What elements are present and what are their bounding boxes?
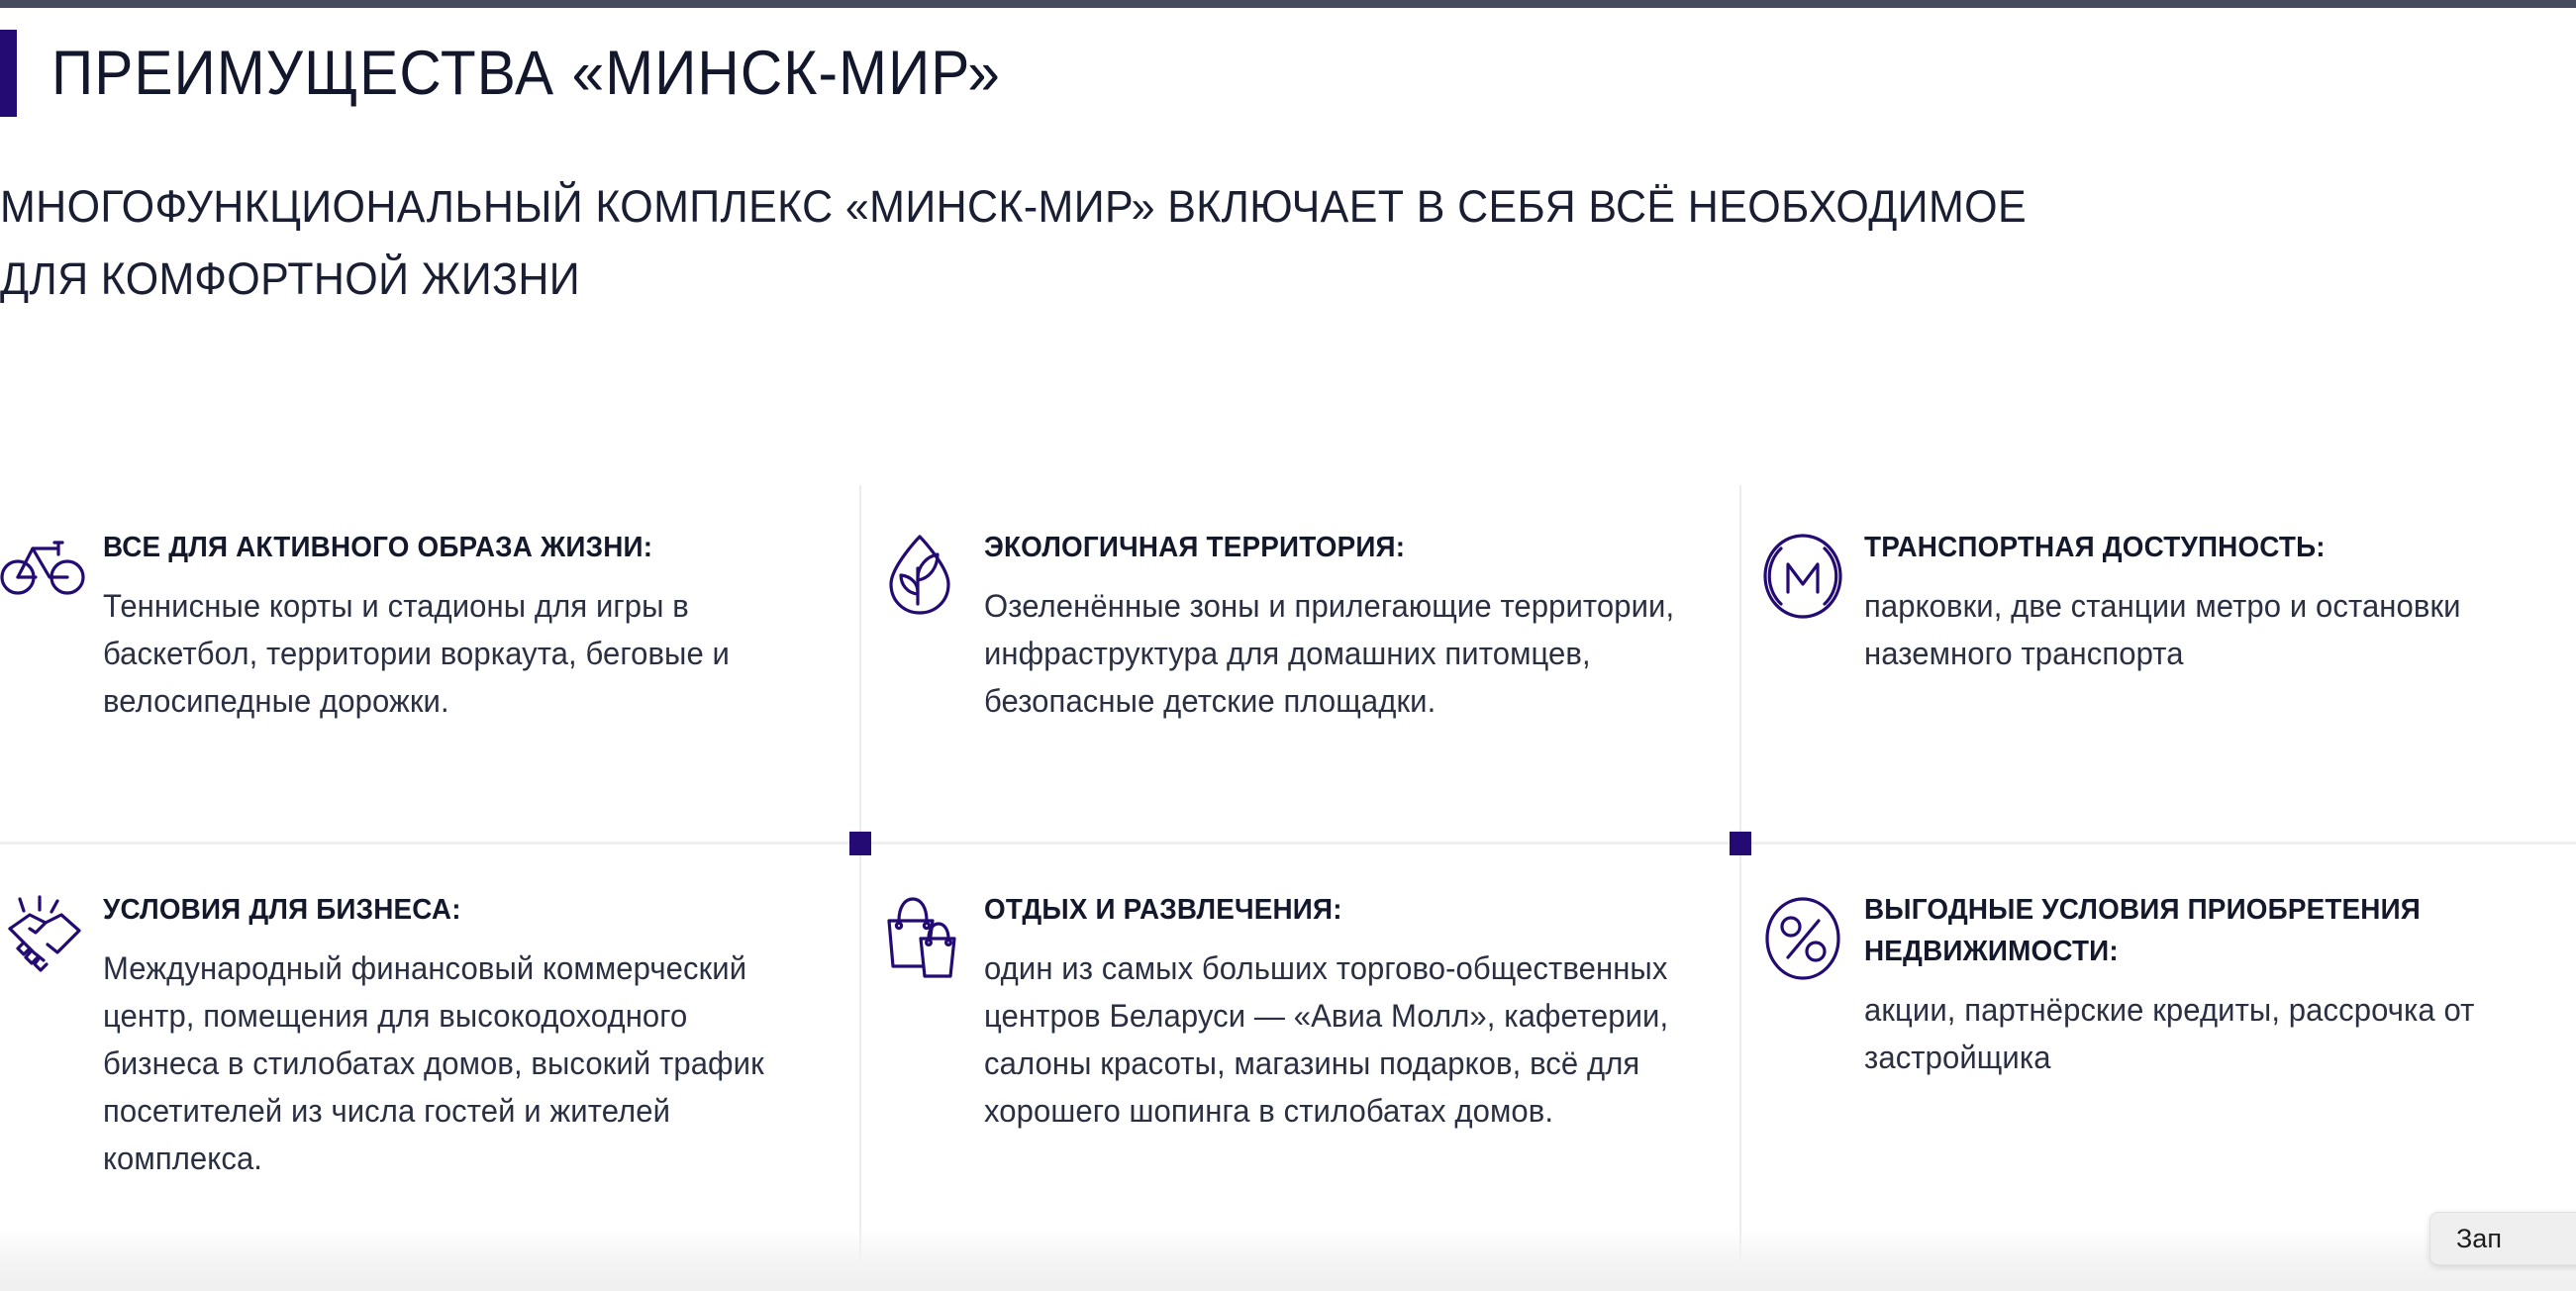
card-body: ЭКОЛОГИЧНАЯ ТЕРРИТОРИЯ: Озеленённые зоны… xyxy=(984,527,1703,725)
card-body: УСЛОВИЯ ДЛЯ БИЗНЕСА: Международный финан… xyxy=(103,889,822,1182)
vertical-divider-right xyxy=(1739,485,1741,1267)
advantage-card-eco-territory[interactable]: ЭКОЛОГИЧНАЯ ТЕРРИТОРИЯ: Озеленённые зоны… xyxy=(881,527,1703,725)
card-text: акции, партнёрские кредиты, рассрочка от… xyxy=(1864,986,2532,1081)
handshake-icon xyxy=(0,889,103,978)
advantage-card-transport[interactable]: ТРАНСПОРТНАЯ ДОСТУПНОСТЬ: парковки, две … xyxy=(1761,527,2553,677)
grid-node-marker-left xyxy=(849,832,871,855)
page-title: ПРЕИМУЩЕСТВА «МИНСК-МИР» xyxy=(51,26,1001,121)
percent-icon xyxy=(1761,889,1864,982)
leaf-drop-icon xyxy=(881,527,984,618)
card-body: ТРАНСПОРТНАЯ ДОСТУПНОСТЬ: парковки, две … xyxy=(1864,527,2553,677)
page-subtitle: МНОГОФУНКЦИОНАЛЬНЫЙ КОМПЛЕКС «МИНСК-МИР»… xyxy=(0,170,2460,315)
advantage-card-leisure[interactable]: ОТДЫХ И РАЗВЛЕЧЕНИЯ: один из самых больш… xyxy=(881,889,1703,1135)
advantage-card-purchase-terms[interactable]: ВЫГОДНЫЕ УСЛОВИЯ ПРИОБРЕТЕНИЯ НЕДВИЖИМОС… xyxy=(1761,889,2553,1081)
accent-bar xyxy=(0,30,17,117)
bicycle-icon xyxy=(0,527,103,596)
card-text: один из самых больших торгово-общественн… xyxy=(984,944,1681,1135)
card-text: Озеленённые зоны и прилегающие территори… xyxy=(984,582,1681,725)
browser-top-strip xyxy=(0,0,2576,8)
grid-node-marker-right xyxy=(1730,832,1751,855)
browser-strip-underline xyxy=(0,8,2576,12)
advantage-card-active-lifestyle[interactable]: ВСЕ ДЛЯ АКТИВНОГО ОБРАЗА ЖИЗНИ: Теннисны… xyxy=(0,527,822,725)
card-title: ВЫГОДНЫЕ УСЛОВИЯ ПРИОБРЕТЕНИЯ НЕДВИЖИМОС… xyxy=(1864,889,2526,972)
card-body: ВСЕ ДЛЯ АКТИВНОГО ОБРАЗА ЖИЗНИ: Теннисны… xyxy=(103,527,822,725)
card-title: ВСЕ ДЛЯ АКТИВНОГО ОБРАЗА ЖИЗНИ: xyxy=(103,527,793,568)
card-title: ОТДЫХ И РАЗВЛЕЧЕНИЯ: xyxy=(984,889,1674,931)
subtitle-line-2: ДЛЯ КОМФОРТНОЙ ЖИЗНИ xyxy=(0,243,2460,315)
metro-icon xyxy=(1761,527,1864,620)
heading-block: ПРЕИМУЩЕСТВА «МИНСК-МИР» xyxy=(0,28,2576,137)
advantages-grid: ВСЕ ДЛЯ АКТИВНОГО ОБРАЗА ЖИЗНИ: Теннисны… xyxy=(0,485,2576,1267)
card-body: ВЫГОДНЫЕ УСЛОВИЯ ПРИОБРЕТЕНИЯ НЕДВИЖИМОС… xyxy=(1864,889,2553,1081)
card-text: парковки, две станции метро и остановки … xyxy=(1864,582,2532,677)
vertical-divider-left xyxy=(859,485,861,1267)
card-title: ЭКОЛОГИЧНАЯ ТЕРРИТОРИЯ: xyxy=(984,527,1674,568)
card-text: Международный финансовый коммерческий це… xyxy=(103,944,800,1182)
bottom-page-edge xyxy=(0,1283,2576,1291)
card-text: Теннисные корты и стадионы для игры в ба… xyxy=(103,582,800,725)
card-title: УСЛОВИЯ ДЛЯ БИЗНЕСА: xyxy=(103,889,793,931)
floating-signup-button[interactable]: Зап xyxy=(2429,1212,2576,1265)
advantage-card-business[interactable]: УСЛОВИЯ ДЛЯ БИЗНЕСА: Международный финан… xyxy=(0,889,822,1182)
card-title: ТРАНСПОРТНАЯ ДОСТУПНОСТЬ: xyxy=(1864,527,2526,568)
card-body: ОТДЫХ И РАЗВЛЕЧЕНИЯ: один из самых больш… xyxy=(984,889,1703,1135)
shopping-bag-icon xyxy=(881,889,984,980)
subtitle-line-1: МНОГОФУНКЦИОНАЛЬНЫЙ КОМПЛЕКС «МИНСК-МИР»… xyxy=(0,170,2460,243)
floating-signup-label: Зап xyxy=(2456,1224,2502,1254)
horizontal-divider xyxy=(0,842,2576,844)
